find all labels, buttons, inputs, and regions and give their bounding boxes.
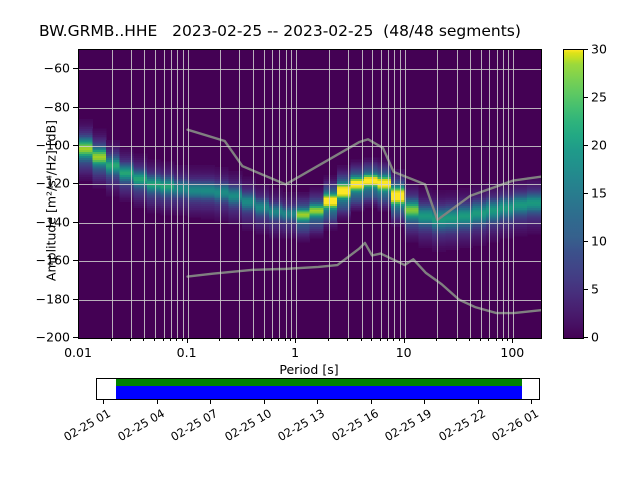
timeline-segment-bar [116, 379, 522, 386]
x-gridline [381, 50, 382, 338]
colorbar-tick [583, 289, 588, 290]
plot-title: BW.GRMB..HHE 2023-02-25 -- 2023-02-25 (4… [0, 22, 560, 40]
x-gridline [112, 50, 113, 338]
y-tick-label: −160 [12, 253, 70, 268]
x-tick [328, 338, 329, 341]
x-tick [361, 338, 362, 341]
colorbar-tick-label: 20 [591, 138, 607, 153]
y-gridline [79, 184, 541, 185]
data-coverage-timeline[interactable] [96, 378, 540, 400]
timeline-tick-label: 02-25 19 [382, 406, 434, 444]
timeline-tick [478, 400, 479, 404]
x-gridline [253, 50, 254, 338]
x-tick [512, 338, 513, 343]
x-gridline [171, 50, 172, 338]
x-tick-label: 0.01 [64, 345, 92, 360]
x-gridline [362, 50, 363, 338]
y-gridline [79, 261, 541, 262]
colorbar-tick [583, 49, 588, 50]
x-tick [170, 338, 171, 341]
x-tick [111, 338, 112, 341]
y-tick [73, 260, 78, 261]
x-tick [399, 338, 400, 341]
colorbar-tick-label: 15 [591, 186, 607, 201]
x-gridline [405, 50, 406, 338]
colorbar-tick-label: 5 [591, 282, 599, 297]
colorbar-tick [583, 145, 588, 146]
y-gridline [79, 223, 541, 224]
x-tick [271, 338, 272, 341]
x-gridline [508, 50, 509, 338]
x-tick-label: 10 [396, 345, 412, 360]
y-tick-label: −120 [12, 176, 70, 191]
colorbar-tick-label: 10 [591, 234, 607, 249]
x-tick [295, 338, 296, 343]
axes-inner [79, 50, 541, 338]
x-gridline [372, 50, 373, 338]
colorbar-tick [583, 193, 588, 194]
x-gridline [457, 50, 458, 338]
colorbar-tick-label: 30 [591, 42, 607, 57]
x-tick [380, 338, 381, 341]
x-gridline [388, 50, 389, 338]
x-tick [154, 338, 155, 341]
timeline-tick-label: 02-25 07 [168, 406, 220, 444]
x-gridline [497, 50, 498, 338]
x-tick-label: 0.1 [177, 345, 197, 360]
x-gridline [272, 50, 273, 338]
x-gridline [164, 50, 165, 338]
timeline-tick-label: 02-26 01 [489, 406, 541, 444]
timeline-tick-label: 02-25 04 [115, 406, 167, 444]
timeline-tick-label: 02-25 16 [329, 406, 381, 444]
x-gridline [291, 50, 292, 338]
x-tick [252, 338, 253, 341]
x-tick [488, 338, 489, 341]
x-gridline [131, 50, 132, 338]
noise-model-nlnm [188, 243, 541, 313]
x-tick [238, 338, 239, 341]
x-tick [143, 338, 144, 341]
x-tick [219, 338, 220, 341]
x-tick [163, 338, 164, 341]
x-tick [176, 338, 177, 341]
x-tick [404, 338, 405, 343]
y-tick-label: −100 [12, 138, 70, 153]
x-tick [278, 338, 279, 341]
y-tick-label: −200 [12, 330, 70, 345]
x-tick [263, 338, 264, 341]
colorbar-tick [583, 337, 588, 338]
x-gridline [220, 50, 221, 338]
y-gridline [79, 300, 541, 301]
x-tick [285, 338, 286, 341]
x-gridline [239, 50, 240, 338]
x-tick [496, 338, 497, 341]
ppsd-figure: BW.GRMB..HHE 2023-02-25 -- 2023-02-25 (4… [0, 0, 640, 480]
y-tick [73, 68, 78, 69]
x-tick-label: 100 [500, 345, 524, 360]
colorbar-tick [583, 97, 588, 98]
x-gridline [470, 50, 471, 338]
x-gridline [481, 50, 482, 338]
x-gridline [394, 50, 395, 338]
y-gridline [79, 146, 541, 147]
x-tick [130, 338, 131, 341]
y-tick [73, 337, 78, 338]
x-axis-label: Period [s] [78, 362, 540, 377]
x-tick [387, 338, 388, 341]
noise-model-curves [79, 50, 541, 338]
timeline-tick [210, 400, 211, 404]
y-tick [73, 299, 78, 300]
x-gridline [400, 50, 401, 338]
colorbar [563, 49, 584, 339]
y-tick-label: −60 [12, 61, 70, 76]
timeline-tick-label: 02-25 10 [222, 406, 274, 444]
timeline-tick [103, 400, 104, 404]
x-tick [456, 338, 457, 341]
x-tick [436, 338, 437, 341]
colorbar-tick-label: 0 [591, 330, 599, 345]
y-tick-label: −140 [12, 214, 70, 229]
x-gridline [348, 50, 349, 338]
x-tick [502, 338, 503, 341]
x-gridline [329, 50, 330, 338]
timeline-data-bar [116, 386, 522, 399]
y-gridline [79, 108, 541, 109]
x-tick [347, 338, 348, 341]
x-gridline [155, 50, 156, 338]
timeline-tick [531, 400, 532, 404]
colorbar-tick [583, 241, 588, 242]
x-gridline [489, 50, 490, 338]
x-gridline [513, 50, 514, 338]
timeline-tick [371, 400, 372, 404]
noise-model-nhnm [188, 130, 541, 220]
x-gridline [279, 50, 280, 338]
x-gridline [183, 50, 184, 338]
x-tick [187, 338, 188, 343]
y-gridline [79, 69, 541, 70]
y-tick [73, 145, 78, 146]
x-tick [371, 338, 372, 341]
x-tick-label: 1 [291, 345, 299, 360]
y-tick-label: −180 [12, 291, 70, 306]
timeline-tick [317, 400, 318, 404]
x-tick [393, 338, 394, 341]
timeline-tick-label: 02-25 01 [61, 406, 113, 444]
x-gridline [503, 50, 504, 338]
y-tick [73, 183, 78, 184]
timeline-tick [424, 400, 425, 404]
x-tick [480, 338, 481, 341]
x-gridline [144, 50, 145, 338]
x-gridline [296, 50, 297, 338]
timeline-tick-label: 02-25 22 [436, 406, 488, 444]
x-gridline [286, 50, 287, 338]
x-tick [469, 338, 470, 341]
x-tick [507, 338, 508, 341]
y-tick [73, 107, 78, 108]
y-tick-label: −80 [12, 99, 70, 114]
x-tick [182, 338, 183, 341]
x-gridline [437, 50, 438, 338]
y-tick [73, 222, 78, 223]
x-gridline [188, 50, 189, 338]
timeline-tick [264, 400, 265, 404]
colorbar-tick-label: 25 [591, 90, 607, 105]
timeline-tick [157, 400, 158, 404]
x-gridline [264, 50, 265, 338]
x-tick [290, 338, 291, 341]
x-gridline [177, 50, 178, 338]
timeline-tick-label: 02-25 13 [275, 406, 327, 444]
ppsd-axes[interactable] [78, 49, 542, 339]
